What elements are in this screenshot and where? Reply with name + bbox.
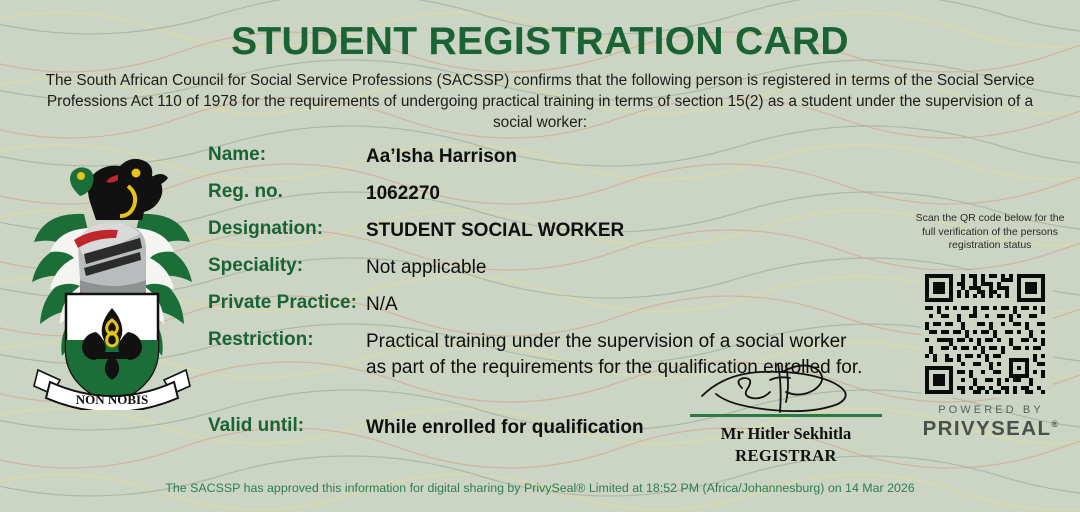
crest-lion	[70, 159, 168, 220]
registrar-name: Mr Hitler Sekhitla	[678, 423, 894, 445]
registration-card: STUDENT REGISTRATION CARD The South Afri…	[0, 0, 1080, 512]
field-value-private-practice: N/A	[366, 292, 398, 318]
field-label-name: Name:	[208, 144, 366, 166]
coat-of-arms-emblem: NON NOBIS	[22, 142, 202, 410]
field-label-reg-no: Reg. no.	[208, 181, 366, 203]
privyseal-name: PRIVYSEAL	[923, 417, 1052, 440]
field-row-designation: Designation: STUDENT SOCIAL WORKER	[208, 218, 908, 255]
powered-by-label: POWERED BY	[921, 404, 1061, 416]
privyseal-branding: POWERED BY PRIVYSEAL®	[921, 404, 1061, 441]
privyseal-wordmark: PRIVYSEAL®	[921, 417, 1061, 441]
field-value-valid-until: While enrolled for qualification	[366, 415, 644, 441]
qr-code[interactable]	[921, 270, 1053, 398]
field-value-reg-no: 1062270	[366, 181, 440, 207]
field-row-speciality: Speciality: Not applicable	[208, 255, 908, 292]
field-label-restriction: Restriction:	[208, 329, 366, 351]
signature-line	[690, 414, 882, 417]
field-label-private-practice: Private Practice:	[208, 292, 366, 314]
qr-instruction-text: Scan the QR code below for the full veri…	[915, 212, 1065, 253]
field-label-valid-until: Valid until:	[208, 415, 366, 437]
signature-block: Mr Hitler Sekhitla REGISTRAR	[678, 358, 894, 467]
intro-paragraph: The South African Council for Social Ser…	[30, 70, 1050, 133]
field-row-reg-no: Reg. no. 1062270	[208, 181, 908, 218]
approval-footer: The SACSSP has approved this information…	[0, 481, 1080, 495]
field-row-private-practice: Private Practice: N/A	[208, 292, 908, 329]
motto-text: NON NOBIS	[76, 392, 149, 407]
field-value-speciality: Not applicable	[366, 255, 486, 281]
handwritten-signature	[686, 358, 886, 414]
field-label-designation: Designation:	[208, 218, 366, 240]
field-label-speciality: Speciality:	[208, 255, 366, 277]
field-value-name: Aa’Isha Harrison	[366, 144, 517, 170]
page-title: STUDENT REGISTRATION CARD	[0, 20, 1080, 64]
registered-mark: ®	[1051, 419, 1059, 429]
shield	[66, 294, 158, 404]
field-value-designation: STUDENT SOCIAL WORKER	[366, 218, 624, 244]
field-row-name: Name: Aa’Isha Harrison	[208, 144, 908, 181]
registrar-role: REGISTRAR	[678, 445, 894, 467]
